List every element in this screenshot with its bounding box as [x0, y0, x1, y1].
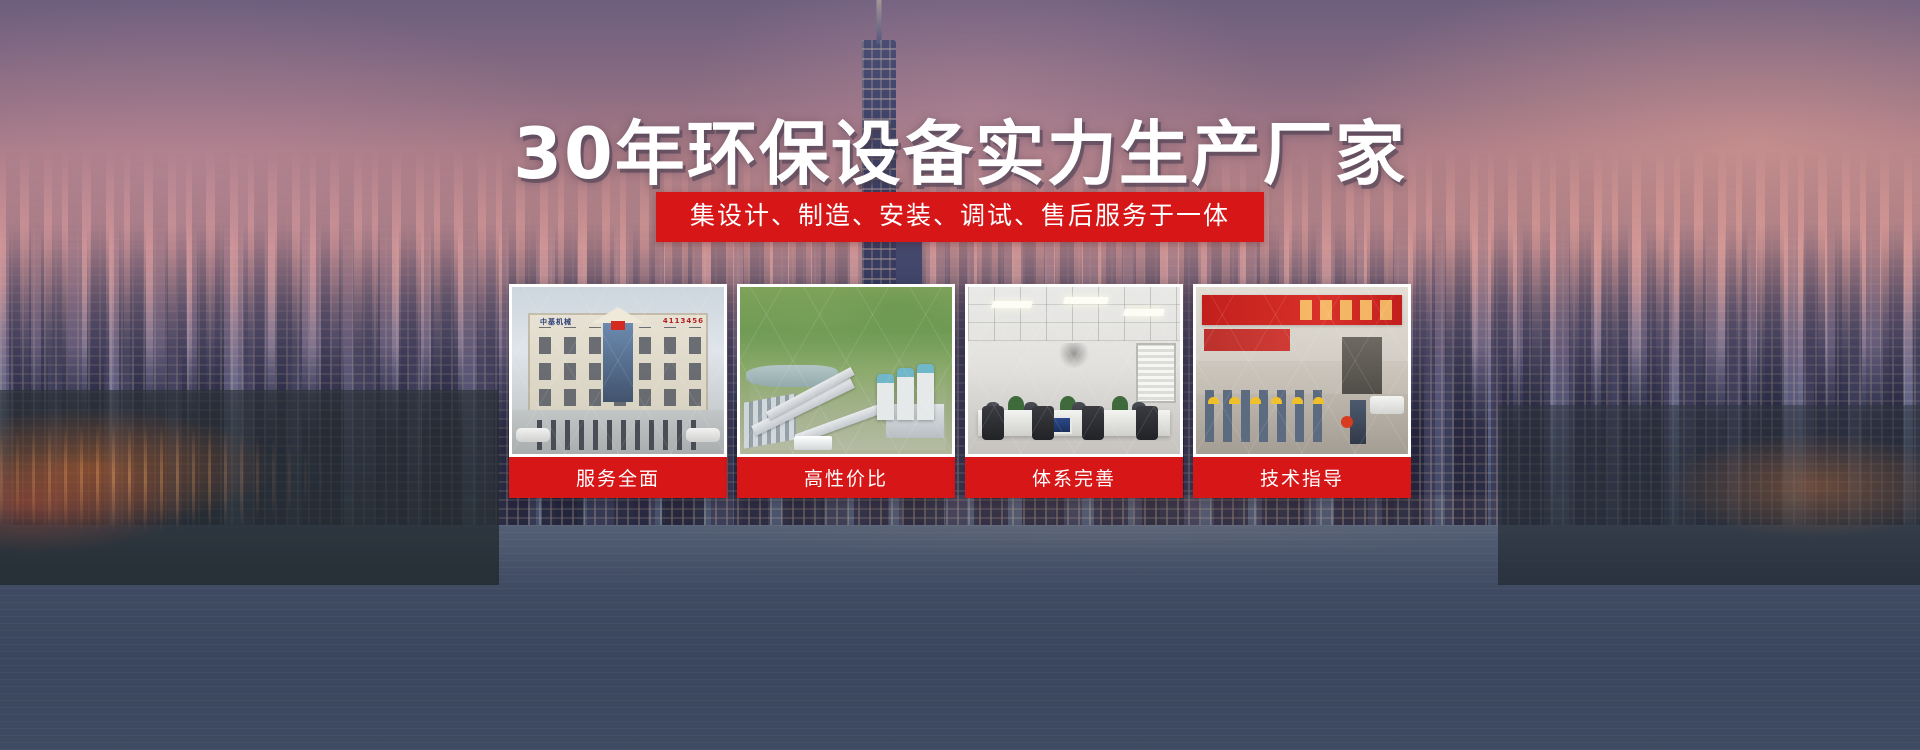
- subtitle-badge: 集设计、制造、安装、调试、售后服务于一体: [656, 192, 1264, 242]
- card-photo-headquarters: 中基机械 4113456: [512, 287, 724, 454]
- card-label: 高性价比: [737, 457, 955, 498]
- card-label: 服务全面: [509, 457, 727, 498]
- hero-banner: 30年环保设备实力生产厂家 集设计、制造、安装、调试、售后服务于一体 中基机械 …: [0, 0, 1920, 750]
- feature-card[interactable]: 中基机械 4113456 服务全面: [509, 284, 727, 498]
- feature-card[interactable]: 高性价比: [737, 284, 955, 498]
- feature-card[interactable]: 技术指导: [1193, 284, 1411, 498]
- building-sign-text: 中基机械: [540, 317, 572, 327]
- card-photo-plant: [740, 287, 952, 454]
- card-label: 技术指导: [1193, 457, 1411, 498]
- feature-card[interactable]: 体系完善: [965, 284, 1183, 498]
- card-photo-workshop: [1196, 287, 1408, 454]
- flag-icon: [611, 321, 625, 330]
- feature-card-list: 中基机械 4113456 服务全面: [0, 284, 1920, 498]
- card-label: 体系完善: [965, 457, 1183, 498]
- subtitle-container: 集设计、制造、安装、调试、售后服务于一体: [0, 192, 1920, 242]
- building-phone-text: 4113456: [663, 317, 704, 325]
- card-photo-office: [968, 287, 1180, 454]
- page-title: 30年环保设备实力生产厂家: [0, 98, 1920, 199]
